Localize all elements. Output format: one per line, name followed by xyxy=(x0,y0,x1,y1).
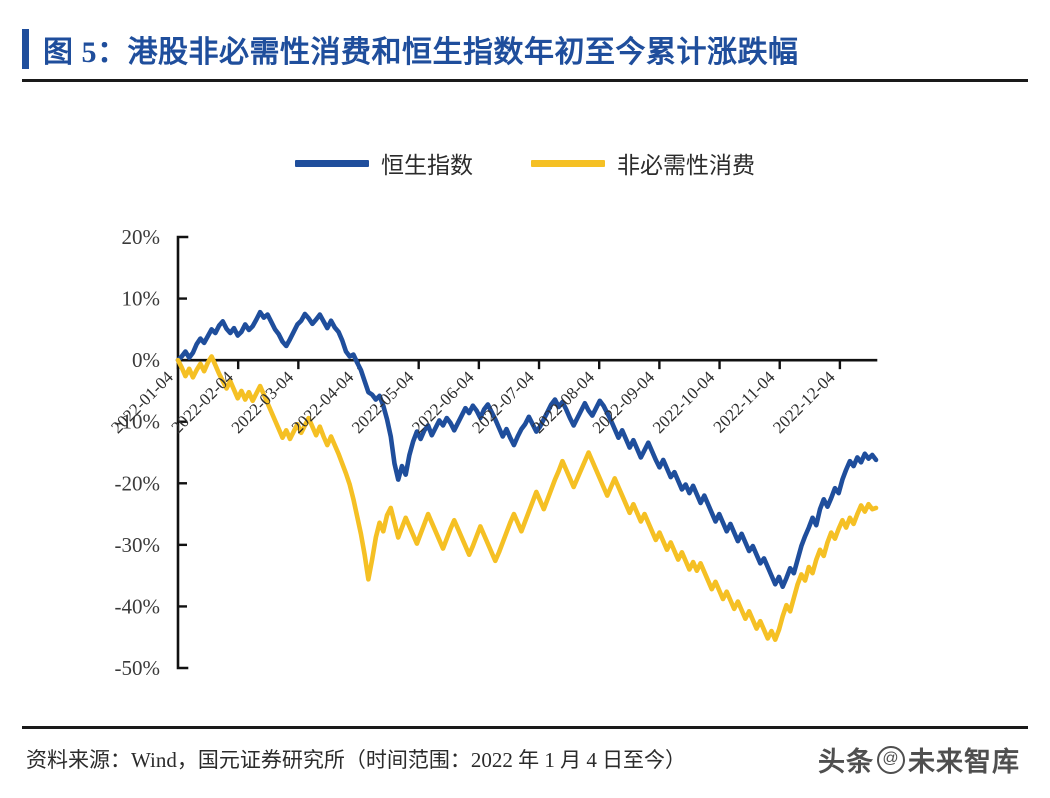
y-tick-label: -50% xyxy=(115,656,161,680)
y-tick-label: -20% xyxy=(115,471,161,495)
chart-plot-area: 20%10%0%-10%-20%-30%-40%-50% 2022-01-042… xyxy=(0,200,1050,700)
y-tick-label: -40% xyxy=(115,594,161,618)
legend-item-consumer-discretionary: 非必需性消费 xyxy=(531,146,755,180)
watermark: 头条 @ 未来智库 xyxy=(818,740,1020,779)
y-tick-label: 20% xyxy=(122,225,161,249)
x-tick-label: 2022-05-04 xyxy=(348,367,418,437)
watermark-prefix: 头条 xyxy=(818,740,874,779)
figure-page: 图 5：港股非必需性消费和恒生指数年初至今累计涨跌幅 恒生指数 非必需性消费 2… xyxy=(0,0,1050,798)
x-tick-label: 2022-11-04 xyxy=(709,367,778,436)
y-tick-label: 10% xyxy=(122,287,161,311)
x-tick-label: 2022-10-04 xyxy=(649,367,719,437)
x-tick-label: 2022-08-04 xyxy=(529,367,599,437)
legend-swatch-hsi xyxy=(295,160,369,167)
y-axis-ticks: 20%10%0%-10%-20%-30%-40%-50% xyxy=(115,225,188,680)
x-axis-labels: 2022-01-042022-02-042022-03-042022-04-04… xyxy=(107,367,839,437)
y-tick-label: -30% xyxy=(115,533,161,557)
page-title: 图 5：港股非必需性消费和恒生指数年初至今累计涨跌幅 xyxy=(43,27,799,71)
chart-axes xyxy=(178,237,876,668)
y-axis-line xyxy=(178,237,187,668)
x-tick-label: 2022-07-04 xyxy=(468,367,538,437)
watermark-at-icon: @ xyxy=(877,746,905,774)
x-tick-label: 2022-12-04 xyxy=(769,367,839,437)
x-tick-label: 2022-03-04 xyxy=(228,367,298,437)
legend-item-hsi: 恒生指数 xyxy=(295,146,473,180)
title-accent-bar xyxy=(22,29,29,69)
series-line-consumer-discretionary xyxy=(178,356,876,639)
legend-label-hsi: 恒生指数 xyxy=(381,146,473,180)
source-note: 资料来源：Wind，国元证券研究所（时间范围：2022 年 1 月 4 日至今） xyxy=(26,744,686,774)
legend-label-consumer-discretionary: 非必需性消费 xyxy=(617,146,755,180)
series-line-hsi xyxy=(178,312,876,587)
footer-divider xyxy=(22,726,1028,729)
x-axis-ticks xyxy=(178,360,840,369)
chart-legend: 恒生指数 非必需性消费 xyxy=(0,146,1050,180)
watermark-name: 未来智库 xyxy=(908,740,1020,779)
header-divider xyxy=(22,79,1028,82)
y-tick-label: 0% xyxy=(132,348,160,372)
line-chart: 20%10%0%-10%-20%-30%-40%-50% 2022-01-042… xyxy=(0,200,1050,700)
x-tick-label: 2022-04-04 xyxy=(288,367,358,437)
figure-header: 图 5：港股非必需性消费和恒生指数年初至今累计涨跌幅 xyxy=(22,20,1028,78)
legend-swatch-consumer-discretionary xyxy=(531,160,605,167)
